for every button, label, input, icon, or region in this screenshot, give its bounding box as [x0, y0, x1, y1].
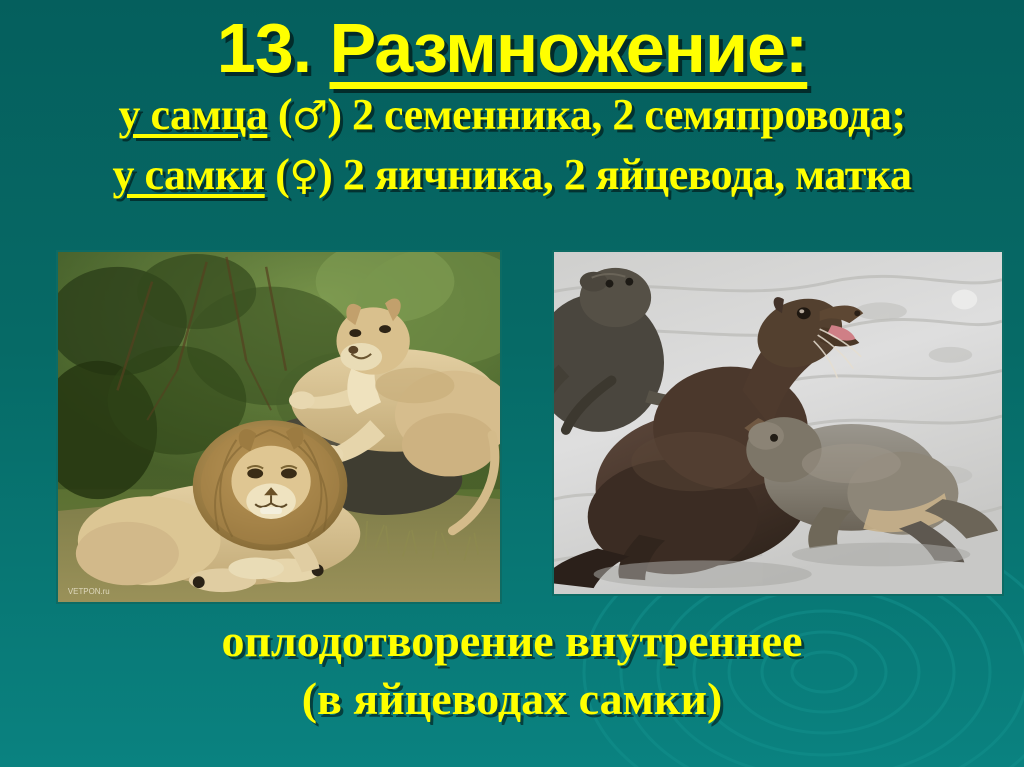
fur-seals-photo: [552, 250, 1004, 596]
svg-text:VETPON.ru: VETPON.ru: [68, 587, 110, 596]
male-symbol-icon: ♂: [292, 93, 327, 139]
subtitle-line-male: у самца (♂) 2 семенника, 2 семяпровода;: [0, 83, 1024, 143]
lions-photo: VETPON.ru: [56, 250, 502, 604]
caption-line-1: оплодотворение внутреннее: [0, 612, 1024, 670]
title-space: [311, 9, 329, 87]
subtitle-female-label: у самки: [112, 150, 264, 199]
title-main-text: Размножение:: [330, 9, 808, 87]
subtitle-male-organs: 2 семенника, 2 семяпровода;: [352, 90, 906, 139]
page-title: 13. Размножение:: [0, 0, 1024, 83]
subtitle-male-close-paren: ): [327, 90, 352, 139]
subtitle-female-close-paren: ): [318, 150, 343, 199]
subtitle-male-label: у самца: [118, 90, 267, 139]
lions-photo-image: VETPON.ru: [58, 252, 500, 602]
female-symbol-icon: ♀: [289, 153, 318, 199]
subtitle-female-organs: 2 яичника, 2 яйцевода, матка: [343, 150, 912, 199]
subtitle-male-open-paren: (: [267, 90, 292, 139]
slide-canvas: 13. Размножение: у самца (♂) 2 семенника…: [0, 0, 1024, 767]
headline-block: 13. Размножение: у самца (♂) 2 семенника…: [0, 0, 1024, 203]
caption-line-2: (в яйцеводах самки): [0, 670, 1024, 728]
subtitle-line-female: у самки (♀) 2 яичника, 2 яйцевода, матка: [0, 143, 1024, 203]
title-number: 13.: [217, 9, 311, 87]
subtitle-female-open-paren: (: [265, 150, 290, 199]
caption-block: оплодотворение внутреннее (в яйцеводах с…: [0, 612, 1024, 727]
fur-seals-photo-image: [554, 252, 1002, 594]
